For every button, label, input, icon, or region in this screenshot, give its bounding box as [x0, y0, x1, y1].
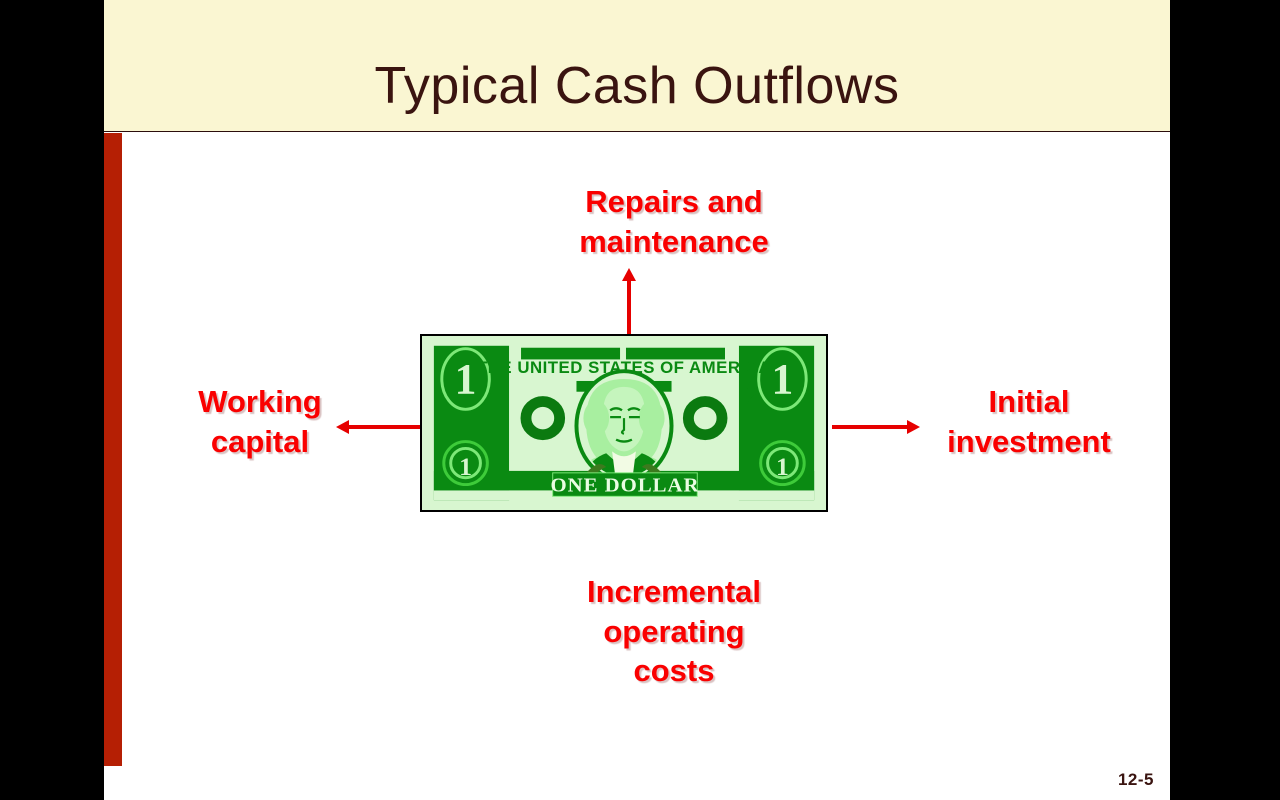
bill-bottom-text: ONE DOLLAR: [550, 475, 699, 497]
callout-label-initial-investment: Initial investment: [894, 382, 1164, 461]
bill-corner-denomination-top-right: 1: [772, 356, 794, 404]
bill-seal-denomination-right: 1: [776, 452, 789, 481]
callout-label-incremental-operating-costs: Incremental operating costs: [524, 572, 824, 691]
cash-outflows-diagram: Repairs and maintenance Working capital …: [104, 132, 1170, 800]
bill-seal-denomination-left: 1: [459, 452, 472, 481]
arrow-right-icon: [832, 417, 920, 437]
washington-portrait: [574, 369, 673, 482]
page-title: Typical Cash Outflows: [104, 60, 1170, 112]
arrow-left-shaft: [348, 425, 422, 429]
arrow-right-head: [907, 420, 920, 434]
arrow-left-icon: [336, 417, 422, 437]
page-number: 12-5: [1118, 770, 1154, 790]
portrait-hair-left: [583, 401, 609, 436]
slide-canvas: Typical Cash Outflows Repairs and mainte…: [104, 0, 1170, 800]
callout-label-repairs: Repairs and maintenance: [524, 182, 824, 261]
dollar-bill-artwork: 1 1 1 1 THE UNITED STATES OF AMERICA: [422, 336, 826, 510]
title-band: Typical Cash Outflows: [104, 0, 1170, 132]
portrait-hair-right: [639, 401, 665, 436]
arrow-up-shaft: [627, 278, 631, 334]
one-dollar-bill-image: 1 1 1 1 THE UNITED STATES OF AMERICA: [420, 334, 828, 512]
slide-stage: Typical Cash Outflows Repairs and mainte…: [0, 0, 1280, 800]
bill-corner-denomination-top-left: 1: [455, 356, 477, 404]
arrow-up-icon: [619, 268, 639, 334]
arrow-right-shaft: [832, 425, 908, 429]
